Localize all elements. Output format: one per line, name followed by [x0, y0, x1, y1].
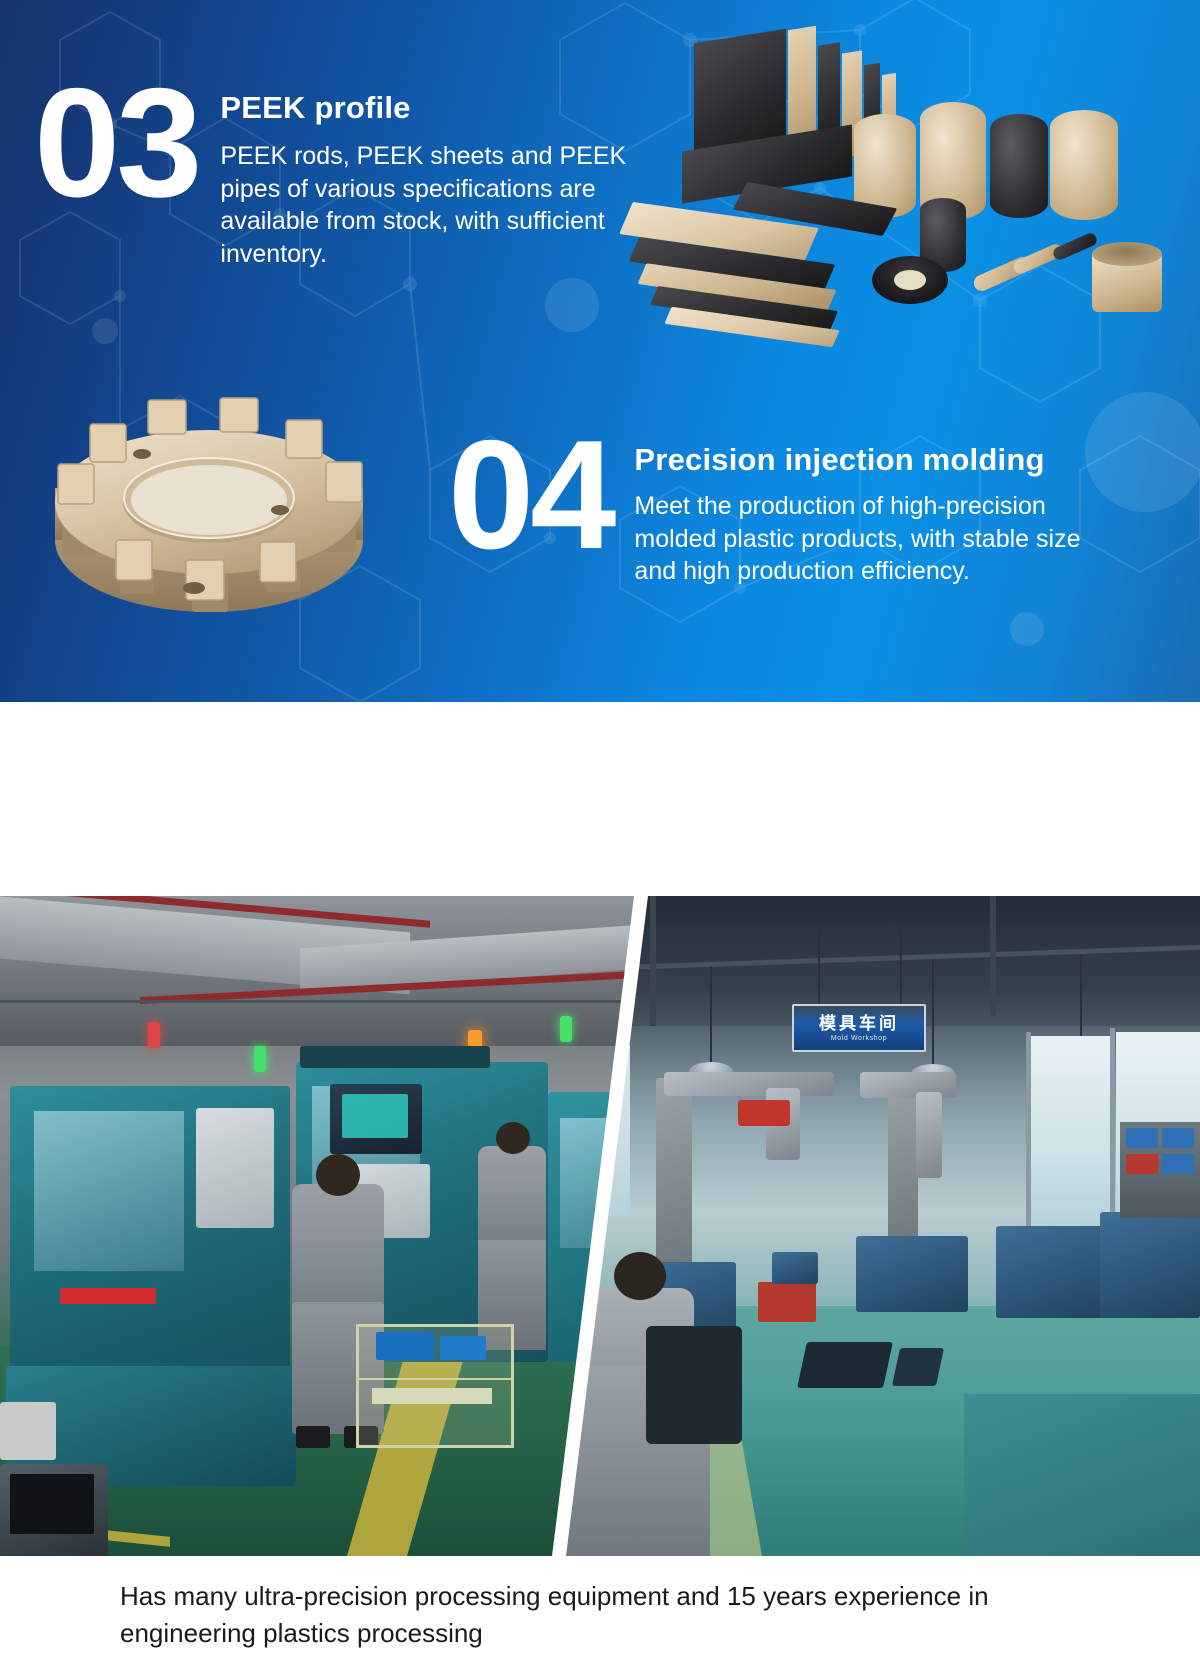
sign-label-cn: 模具车间	[819, 1015, 899, 1032]
hero-section: 03 PEEK profile PEEK rods, PEEK sheets a…	[0, 0, 1200, 702]
mold-workshop-sign: 模具车间 Mold Workshop	[792, 1004, 926, 1052]
marketing-page: 03 PEEK profile PEEK rods, PEEK sheets a…	[0, 0, 1200, 1664]
decorative-circle	[545, 278, 599, 332]
peek-stock-profiles-photo	[620, 18, 1192, 348]
feature-number: 04	[448, 424, 612, 567]
peek-gear-ring-photo	[34, 392, 384, 644]
workshop-photo-strip: 模具车间 Mold Workshop	[0, 896, 1200, 1556]
mold-workshop-photo: 模具车间 Mold Workshop	[560, 896, 1200, 1556]
caption-section: Has many ultra-precision processing equi…	[0, 1556, 1200, 1664]
sign-label-en: Mold Workshop	[831, 1035, 887, 1042]
feature-description: PEEK rods, PEEK sheets and PEEK pipes of…	[220, 140, 640, 270]
strengths-banner: Our strengths	[0, 702, 1200, 898]
feature-block-03: 03 PEEK profile PEEK rods, PEEK sheets a…	[34, 72, 640, 270]
caption-text: Has many ultra-precision processing equi…	[120, 1578, 1080, 1652]
feature-block-04: 04 Precision injection molding Meet the …	[448, 424, 1104, 588]
feature-title: PEEK profile	[220, 90, 640, 126]
feature-description: Meet the production of high-precision mo…	[634, 490, 1104, 588]
feature-number: 03	[34, 72, 198, 215]
feature-title: Precision injection molding	[634, 442, 1104, 478]
decorative-circle	[92, 318, 118, 344]
decorative-circle	[1010, 612, 1044, 646]
cnc-machining-workshop-photo	[0, 896, 640, 1556]
